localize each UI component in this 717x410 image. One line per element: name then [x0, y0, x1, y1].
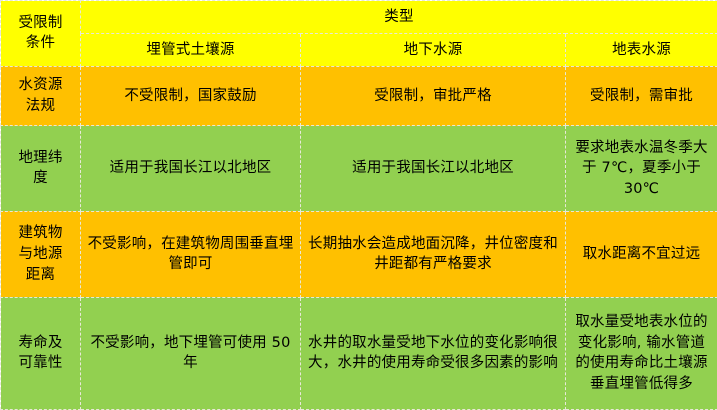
- row-label-distance-to-building: 建筑物 与地源 距离: [1, 211, 81, 297]
- row-label-line1: 建筑物: [6, 223, 75, 244]
- cell-geographic-latitude-ground: 适用于我国长江以北地区: [301, 126, 566, 212]
- table-row: 寿命及 可靠性 不受影响，地下埋管可使用 50 年 水井的取水量受地下水位的变化…: [1, 297, 717, 409]
- corner-header-cell: 受限制 条件: [1, 1, 81, 67]
- table-row: 水资源 法规 不受限制，国家鼓励 受限制，审批严格 受限制，需审批: [1, 66, 717, 125]
- row-label-line1: 地理纬: [6, 148, 75, 169]
- row-label-lifetime-reliability: 寿命及 可靠性: [1, 297, 81, 409]
- cell-water-regulation-ground: 受限制，审批严格: [301, 66, 566, 125]
- cell-water-regulation-surface: 受限制，需审批: [566, 66, 717, 125]
- table-row: 建筑物 与地源 距离 不受影响，在建筑物周围垂直埋管即可 长期抽水会造成地面沉降…: [1, 211, 717, 297]
- column-header-soil: 埋管式土壤源: [81, 33, 301, 66]
- comparison-table: 受限制 条件 类型 埋管式土壤源 地下水源 地表水源 水资源 法规 不受限制，国…: [0, 0, 717, 410]
- row-label-line2: 度: [6, 168, 75, 189]
- cell-geographic-latitude-surface: 要求地表水温冬季大于 7℃，夏季小于 30℃: [566, 126, 717, 212]
- table-header-row-columns: 埋管式土壤源 地下水源 地表水源: [1, 33, 717, 66]
- row-label-line1: 水资源: [6, 75, 75, 96]
- column-header-surface: 地表水源: [566, 33, 717, 66]
- cell-lifetime-reliability-ground: 水井的取水量受地下水位的变化影响很大，水井的使用寿命受很多因素的影响: [301, 297, 566, 409]
- table-row: 地理纬 度 适用于我国长江以北地区 适用于我国长江以北地区 要求地表水温冬季大于…: [1, 126, 717, 212]
- column-header-ground: 地下水源: [301, 33, 566, 66]
- row-label-line3: 距离: [6, 265, 75, 286]
- cell-water-regulation-soil: 不受限制，国家鼓励: [81, 66, 301, 125]
- row-label-line2: 与地源: [6, 244, 75, 265]
- cell-distance-to-building-surface: 取水距离不宜过远: [566, 211, 717, 297]
- group-header-type: 类型: [81, 1, 717, 34]
- row-label-line1: 寿命及: [6, 333, 75, 354]
- cell-lifetime-reliability-surface: 取水量受地表水位的变化影响, 输水管道的使用寿命比土壤源垂直埋管低得多: [566, 297, 717, 409]
- cell-distance-to-building-ground: 长期抽水会造成地面沉降，井位密度和井距都有严格要求: [301, 211, 566, 297]
- table-header-row-group: 受限制 条件 类型: [1, 1, 717, 34]
- row-label-water-regulation: 水资源 法规: [1, 66, 81, 125]
- corner-header-line1: 受限制: [6, 13, 75, 34]
- cell-lifetime-reliability-soil: 不受影响，地下埋管可使用 50 年: [81, 297, 301, 409]
- row-label-line2: 法规: [6, 96, 75, 117]
- row-label-line2: 可靠性: [6, 353, 75, 374]
- cell-distance-to-building-soil: 不受影响，在建筑物周围垂直埋管即可: [81, 211, 301, 297]
- comparison-table-container: 受限制 条件 类型 埋管式土壤源 地下水源 地表水源 水资源 法规 不受限制，国…: [0, 0, 717, 410]
- row-label-geographic-latitude: 地理纬 度: [1, 126, 81, 212]
- cell-geographic-latitude-soil: 适用于我国长江以北地区: [81, 126, 301, 212]
- corner-header-line2: 条件: [6, 33, 75, 54]
